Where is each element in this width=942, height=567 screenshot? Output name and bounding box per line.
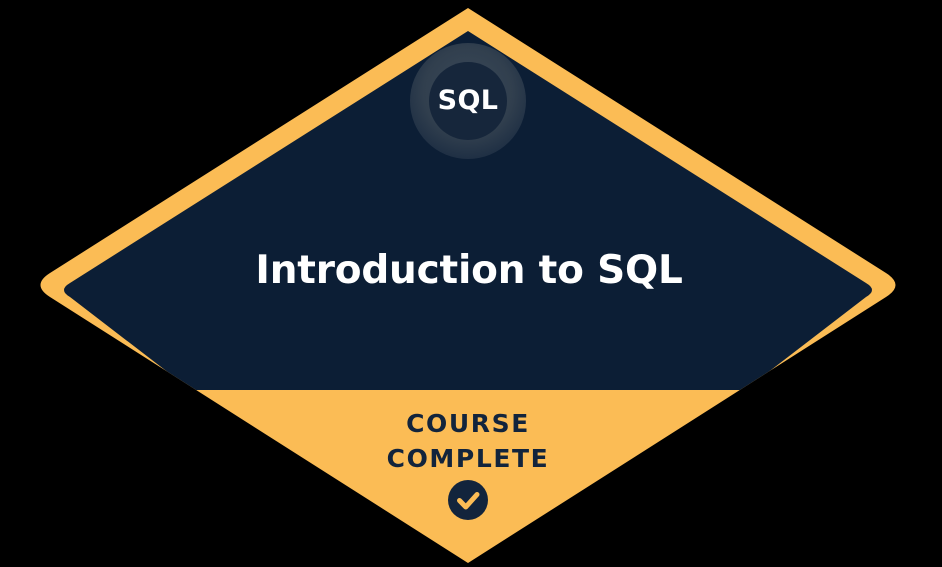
status-line-1: COURSE (0, 406, 936, 441)
course-title: Introduction to SQL (0, 243, 938, 299)
course-completion-badge[interactable]: SQL Introduction to SQL COURSE COMPLETE (0, 0, 942, 567)
status-badge: COURSE COMPLETE (0, 406, 936, 476)
skill-chip-label: SQL (0, 80, 936, 122)
status-line-2: COMPLETE (0, 441, 936, 476)
check-circle-icon (448, 480, 488, 520)
